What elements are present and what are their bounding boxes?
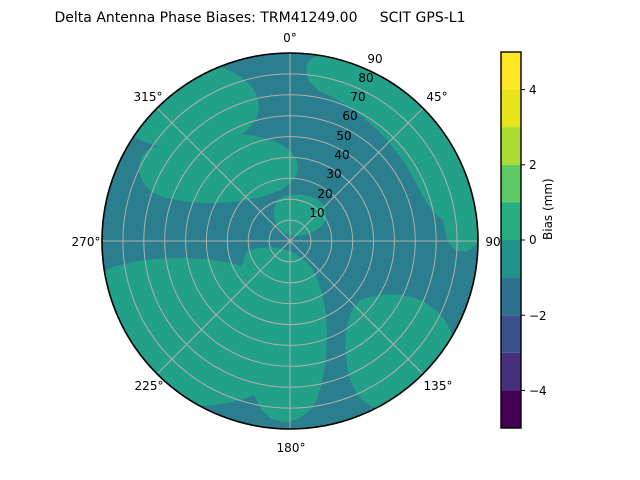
radial-tick-label-20: 20 (317, 187, 332, 201)
colorbar-swatches (501, 52, 521, 428)
theta-tick-label-135: 135° (424, 379, 453, 393)
theta-tick-label-315: 315° (134, 90, 163, 104)
colorbar-tick-label-0: 0 (529, 233, 537, 247)
theta-tick-label-180: 180° (277, 441, 306, 455)
theta-tick-label-225: 225° (135, 379, 164, 393)
colorbar-swatch-5 (501, 202, 521, 240)
colorbar-swatch-2 (501, 315, 521, 353)
radial-tick-label-80: 80 (358, 71, 373, 85)
colorbar-swatch-3 (501, 278, 521, 316)
colorbar-swatch-8 (501, 90, 521, 128)
matplotlib-figure: Delta Antenna Phase Biases: TRM41249.00 … (0, 0, 640, 480)
theta-tick-label-270: 270° (72, 235, 101, 249)
colorbar-swatch-9 (501, 52, 521, 90)
colorbar-swatch-1 (501, 353, 521, 391)
colorbar-tick-label-2: 2 (529, 158, 537, 172)
radial-tick-label-60: 60 (342, 109, 357, 123)
colorbar-swatch-6 (501, 165, 521, 203)
radial-tick-label-40: 40 (334, 148, 349, 162)
theta-tick-label-0: 0° (283, 31, 297, 45)
radial-tick-label-10: 10 (309, 206, 324, 220)
colorbar-swatch-0 (501, 390, 521, 428)
colorbar-swatch-4 (501, 240, 521, 278)
colorbar[interactable]: 4 2 0 −2 −4 (498, 48, 618, 448)
colorbar-axis-label: Bias (mm) (541, 178, 555, 240)
radial-tick-label-70: 70 (350, 90, 365, 104)
polar-grid-spokes (102, 53, 478, 429)
radial-tick-label-90: 90 (367, 52, 382, 66)
colorbar-swatch-7 (501, 127, 521, 165)
colorbar-tick-label-minus4: −4 (529, 384, 547, 398)
radial-tick-label-30: 30 (326, 167, 341, 181)
radial-tick-label-50: 50 (336, 129, 351, 143)
colorbar-tick-label-4: 4 (529, 83, 537, 97)
colorbar-tick-label-minus2: −2 (529, 309, 547, 323)
theta-tick-label-45: 45° (426, 90, 447, 104)
